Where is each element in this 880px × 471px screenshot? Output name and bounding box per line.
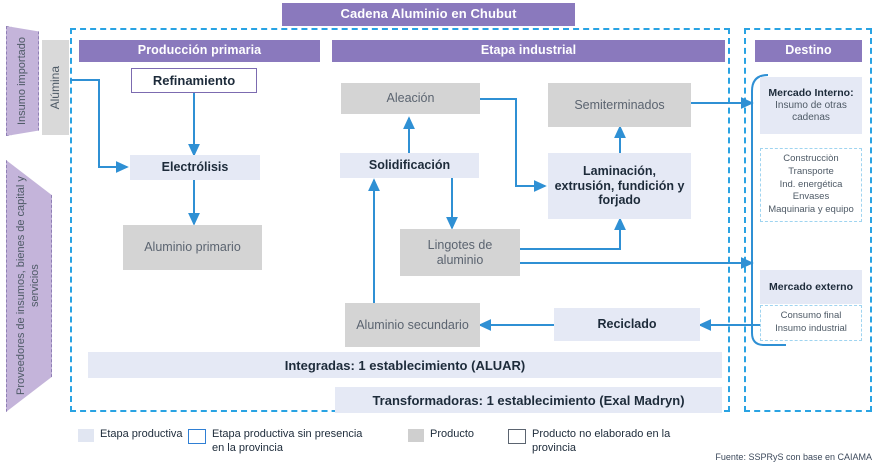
mercado-externo-title: Mercado externo bbox=[769, 281, 853, 293]
legend-item-etapa-productiva-sin-presencia: Etapa productiva sin presencia en la pro… bbox=[188, 428, 362, 456]
legend-item-etapa-productiva: Etapa productiva bbox=[78, 428, 183, 442]
tag-proveedores: Proveedores de insumos, bienes de capita… bbox=[6, 160, 52, 412]
legend-item-producto-no-elaborado: Producto no elaborado en la provincia bbox=[508, 428, 670, 456]
legend-swatch-product-icon bbox=[408, 429, 424, 442]
legend-label-etapa-productiva: Etapa productiva bbox=[100, 428, 183, 442]
diagram-canvas: Cadena Aluminio en Chubut Insumo importa… bbox=[0, 0, 880, 471]
node-aleacion: Aleación bbox=[341, 83, 480, 114]
mercado-externo-destinos-list: Consumo final Insumo industrial bbox=[775, 310, 847, 336]
node-electrolisis: Electrólisis bbox=[130, 155, 260, 180]
tag-proveedores-label: Proveedores de insumos, bienes de capita… bbox=[15, 161, 43, 411]
mercado-interno-title: Mercado Interno: bbox=[768, 87, 853, 99]
node-alumina: Alúmina bbox=[42, 40, 69, 135]
legend: Etapa productiva Etapa productiva sin pr… bbox=[60, 428, 820, 470]
legend-label-producto-no-elaborado: Producto no elaborado en la provincia bbox=[532, 428, 670, 456]
node-mercado-externo: Mercado externo bbox=[760, 270, 862, 304]
column-title-produccion-primaria: Producción primaria bbox=[79, 40, 320, 62]
node-semiterminados: Semiterminados bbox=[548, 83, 691, 127]
node-lingotes-de-aluminio: Lingotes de aluminio bbox=[400, 229, 520, 276]
node-alumina-label: Alúmina bbox=[48, 66, 63, 109]
node-mercado-externo-destinos: Consumo final Insumo industrial bbox=[760, 305, 862, 341]
column-title-etapa-industrial: Etapa industrial bbox=[332, 40, 725, 62]
node-solidificacion: Solidificación bbox=[340, 153, 479, 178]
source-note: Fuente: SSPRyS con base en CAIAMA bbox=[715, 452, 872, 462]
tag-insumo-importado-label: Insumo importado bbox=[16, 37, 30, 125]
legend-swatch-stage-icon bbox=[78, 429, 94, 442]
node-laminacion: Laminación, extrusión, fundición y forja… bbox=[548, 153, 691, 219]
node-reciclado: Reciclado bbox=[554, 308, 700, 341]
legend-label-etapa-productiva-sin-presencia: Etapa productiva sin presencia en la pro… bbox=[212, 428, 362, 456]
band-integradas: Integradas: 1 establecimiento (ALUAR) bbox=[88, 352, 722, 378]
mercado-interno-subtitle: Insumo de otras cadenas bbox=[760, 100, 862, 124]
page-title: Cadena Aluminio en Chubut bbox=[282, 3, 575, 26]
tag-insumo-importado: Insumo importado bbox=[6, 26, 39, 136]
node-aluminio-primario: Aluminio primario bbox=[123, 225, 262, 270]
legend-swatch-stage-outline-icon bbox=[188, 429, 206, 444]
node-aluminio-secundario: Aluminio secundario bbox=[345, 303, 480, 347]
node-refinamiento: Refinamiento bbox=[131, 68, 257, 93]
legend-swatch-product-outline-icon bbox=[508, 429, 526, 444]
band-transformadoras: Transformadoras: 1 establecimiento (Exal… bbox=[335, 387, 722, 413]
legend-label-producto: Producto bbox=[430, 428, 474, 442]
column-title-destino: Destino bbox=[755, 40, 862, 62]
legend-item-producto: Producto bbox=[408, 428, 474, 442]
mercado-interno-sectores-list: Construcciòn Transporte Ind. energética … bbox=[768, 153, 854, 217]
node-mercado-interno-sectores: Construcciòn Transporte Ind. energética … bbox=[760, 148, 862, 222]
node-mercado-interno: Mercado Interno: Insumo de otras cadenas bbox=[760, 77, 862, 134]
